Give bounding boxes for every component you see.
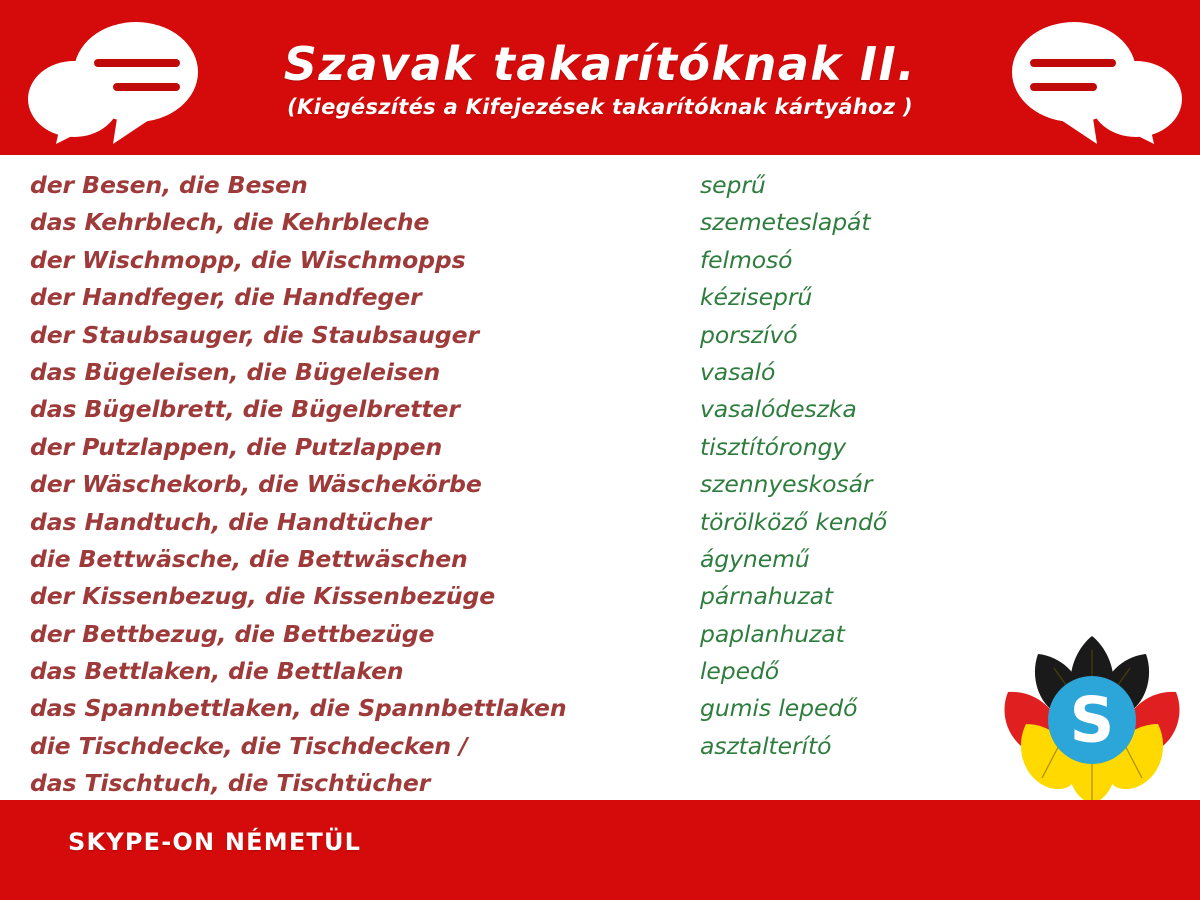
german-term: der Wischmopp, die Wischmopps [30, 242, 466, 279]
hungarian-term: paplanhuzat [700, 616, 845, 653]
german-term: der Wäschekorb, die Wäschekörbe [30, 466, 482, 503]
card-footer: SKYPE-ON NÉMETÜL [0, 800, 1200, 900]
hungarian-term: porszívó [700, 317, 798, 354]
vocabulary-row: der Putzlappen, die Putzlappen tisztítór… [0, 429, 1200, 466]
vocabulary-row: der Kissenbezug, die Kissenbezüge párnah… [0, 578, 1200, 615]
vocabulary-row: die Bettwäsche, die Bettwäschen ágynemű [0, 541, 1200, 578]
page-title: Szavak takarítóknak II. [284, 40, 916, 88]
german-term: der Kissenbezug, die Kissenbezüge [30, 578, 495, 615]
german-term: das Bettlaken, die Bettlaken [30, 653, 404, 690]
vocabulary-row: das Kehrblech, die Kehrbleche szemetesla… [0, 204, 1200, 241]
german-term: das Bügeleisen, die Bügeleisen [30, 354, 440, 391]
speech-bubbles-icon-right [987, 14, 1192, 144]
hungarian-term: szennyeskosár [700, 466, 872, 503]
german-term: der Handfeger, die Handfeger [30, 279, 422, 316]
vocabulary-row: der Besen, die Besen seprű [0, 167, 1200, 204]
skype-logo-letter: S [1070, 684, 1115, 757]
footer-brand-text: SKYPE-ON NÉMETÜL [68, 828, 361, 856]
german-term: der Bettbezug, die Bettbezüge [30, 616, 434, 653]
german-term: das Kehrblech, die Kehrbleche [30, 204, 429, 241]
vocabulary-row: der Staubsauger, die Staubsauger porszív… [0, 317, 1200, 354]
vocabulary-row: der Wäschekorb, die Wäschekörbe szennyes… [0, 466, 1200, 503]
vocabulary-row: das Bügeleisen, die Bügeleisen vasaló [0, 354, 1200, 391]
hungarian-term: vasaló [700, 354, 775, 391]
hungarian-term: kéziseprű [700, 279, 812, 316]
vocabulary-card: Szavak takarítóknak II. (Kiegészítés a K… [0, 0, 1200, 900]
hungarian-term: tisztítórongy [700, 429, 846, 466]
hungarian-term: gumis lepedő [700, 690, 857, 727]
page-subtitle: (Kiegészítés a Kifejezések takarítóknak … [287, 95, 913, 119]
hungarian-term: szemeteslapát [700, 204, 870, 241]
german-term: das Spannbettlaken, die Spannbettlaken [30, 690, 566, 727]
vocabulary-row: das Handtuch, die Handtücher törölköző k… [0, 504, 1200, 541]
hungarian-term: asztalterító [700, 728, 831, 765]
vocabulary-row: der Wischmopp, die Wischmopps felmosó [0, 242, 1200, 279]
vocabulary-row: der Handfeger, die Handfeger kéziseprű [0, 279, 1200, 316]
hungarian-term: törölköző kendő [700, 504, 887, 541]
skype-german-flower-logo: S [992, 628, 1192, 808]
hungarian-term: felmosó [700, 242, 792, 279]
german-term: das Handtuch, die Handtücher [30, 504, 431, 541]
german-term: der Putzlappen, die Putzlappen [30, 429, 442, 466]
hungarian-term: lepedő [700, 653, 779, 690]
vocabulary-row: das Bügelbrett, die Bügelbretter vasalód… [0, 391, 1200, 428]
card-header: Szavak takarítóknak II. (Kiegészítés a K… [0, 0, 1200, 155]
hungarian-term: vasalódeszka [700, 391, 857, 428]
german-term: die Tischdecke, die Tischdecken / [30, 728, 468, 765]
german-term: der Staubsauger, die Staubsauger [30, 317, 479, 354]
hungarian-term: seprű [700, 167, 766, 204]
german-term: das Bügelbrett, die Bügelbretter [30, 391, 460, 428]
german-term: der Besen, die Besen [30, 167, 308, 204]
german-term: die Bettwäsche, die Bettwäschen [30, 541, 468, 578]
hungarian-term: ágynemű [700, 541, 810, 578]
hungarian-term: párnahuzat [700, 578, 833, 615]
german-term: das Tischtuch, die Tischtücher [30, 765, 430, 802]
